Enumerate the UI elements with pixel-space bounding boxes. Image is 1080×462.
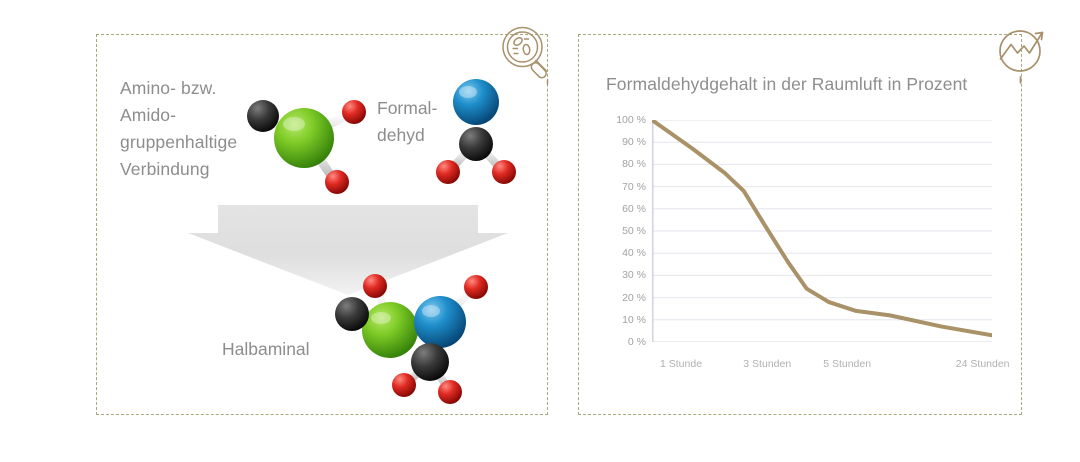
chart-y-tick-label: 30 % bbox=[600, 269, 646, 281]
chart-title: Formaldehydgehalt in der Raumluft in Pro… bbox=[606, 74, 967, 95]
line-chart: 100 %90 %80 %70 %60 %50 %40 %30 %20 %10 … bbox=[600, 120, 1000, 385]
chart-y-tick-label: 40 % bbox=[600, 247, 646, 259]
chart-y-tick-label: 10 % bbox=[600, 314, 646, 326]
chart-gridlines bbox=[652, 120, 992, 342]
magnifier-molecule-icon bbox=[497, 22, 561, 86]
trend-chart-icon bbox=[991, 22, 1055, 86]
chart-x-tick-label: 24 Stunden bbox=[956, 358, 1010, 370]
chart-y-tick-label: 100 % bbox=[600, 114, 646, 126]
formaldehyde-molecule bbox=[434, 72, 518, 188]
chart-y-tick-label: 80 % bbox=[600, 158, 646, 170]
chart-y-tick-label: 70 % bbox=[600, 181, 646, 193]
chart-x-tick-label: 5 Stunden bbox=[823, 358, 871, 370]
chart-y-tick-label: 0 % bbox=[600, 336, 646, 348]
infographic-canvas: Amino- bzw. Amido- gruppenhaltige Verbin… bbox=[0, 0, 1080, 462]
chart-x-tick-label: 1 Stunde bbox=[660, 358, 702, 370]
amino-compound-molecule bbox=[238, 82, 374, 198]
chart-y-tick-label: 20 % bbox=[600, 292, 646, 304]
chart-y-tick-label: 60 % bbox=[600, 203, 646, 215]
chart-series-line bbox=[652, 120, 992, 335]
halbaminal-label: Halbaminal bbox=[222, 339, 310, 360]
chart-plot-svg bbox=[652, 120, 992, 342]
chart-x-tick-label: 3 Stunden bbox=[743, 358, 791, 370]
chart-y-tick-label: 50 % bbox=[600, 225, 646, 237]
halbaminal-molecule bbox=[324, 268, 508, 404]
chart-y-tick-label: 90 % bbox=[600, 136, 646, 148]
